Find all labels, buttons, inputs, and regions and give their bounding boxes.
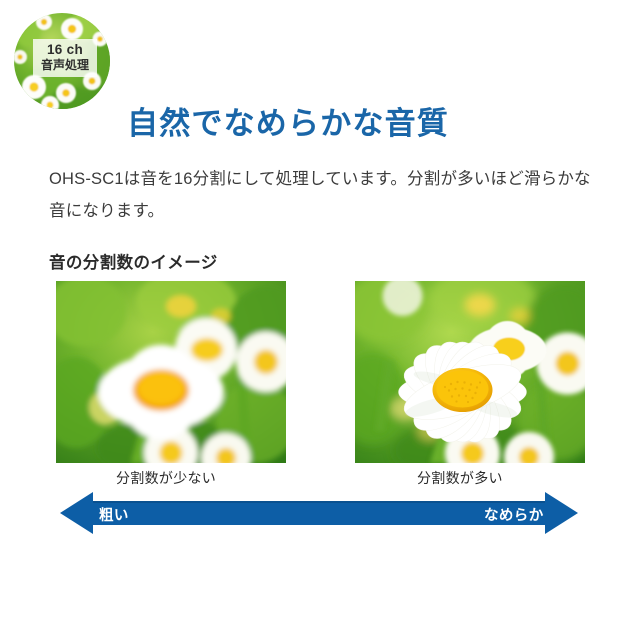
badge-line2: 音声処理 <box>41 58 89 72</box>
caption-left: 分割数が少ない <box>116 468 216 488</box>
scale-label-high: なめらか <box>484 504 544 525</box>
scale-label-low: 粗い <box>99 504 129 525</box>
badge-label-box: 16 ch 音声処理 <box>33 39 97 76</box>
badge-16ch: 16 ch 音声処理 <box>14 13 110 109</box>
badge-line1: 16 ch <box>41 42 89 58</box>
daisy-photo-pixelated <box>56 281 286 463</box>
comparison-photo-right <box>355 281 585 463</box>
section-label: 音の分割数のイメージ <box>49 249 218 273</box>
daisy-photo-smooth <box>355 281 585 463</box>
caption-right: 分割数が多い <box>417 468 503 488</box>
page-bodycopy: OHS-SC1は音を16分割にして処理しています。分割が多いほど滑らかな音になり… <box>49 163 601 227</box>
comparison-photo-left <box>56 281 286 463</box>
page-headline: 自然でなめらかな音質 <box>127 98 449 143</box>
